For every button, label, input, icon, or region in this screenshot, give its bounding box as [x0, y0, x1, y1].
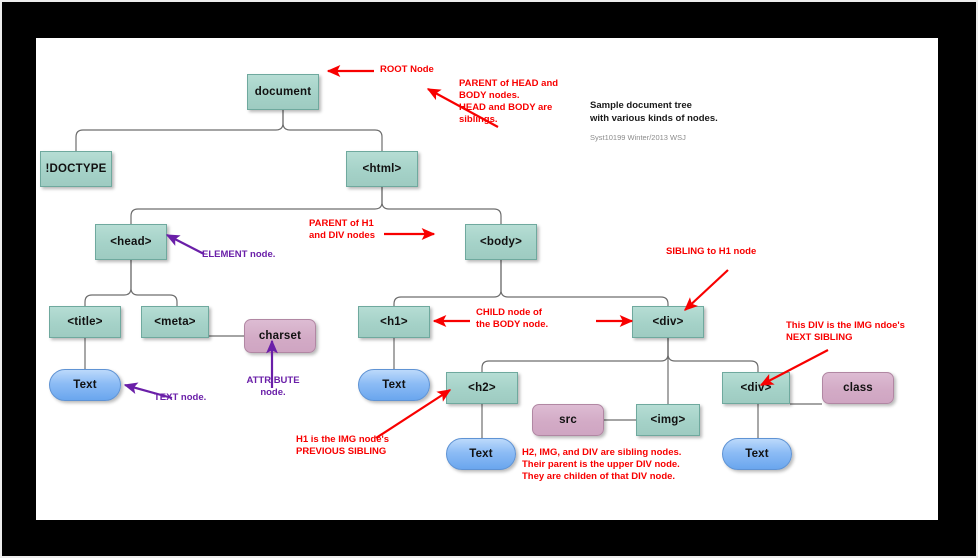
annotation-parent-head-body: PARENT of HEAD and BODY nodes. HEAD and …	[459, 78, 558, 126]
node-label: document	[255, 86, 312, 98]
annotation-next-sibling: This DIV is the IMG ndoe's NEXT SIBLING	[786, 320, 905, 344]
node-text-div-lower[interactable]: Text	[722, 438, 792, 470]
node-label: <h2>	[468, 382, 496, 394]
node-img[interactable]: <img>	[636, 404, 700, 436]
node-label: <div>	[740, 382, 771, 394]
node-title[interactable]: <title>	[49, 306, 121, 338]
node-label: <head>	[110, 236, 151, 248]
node-charset-attribute[interactable]: charset	[244, 319, 316, 353]
annotation-attribute-node: ATTRIBUTE node.	[240, 375, 306, 399]
node-label: Text	[73, 379, 97, 391]
node-label: class	[843, 382, 873, 394]
node-document[interactable]: document	[247, 74, 319, 110]
annotation-child-of-body: CHILD node of the BODY node.	[476, 307, 548, 331]
node-head[interactable]: <head>	[95, 224, 167, 260]
node-label: !DOCTYPE	[45, 163, 106, 175]
annotation-parent-h1-div: PARENT of H1 and DIV nodes	[309, 218, 375, 242]
node-body[interactable]: <body>	[465, 224, 537, 260]
node-div-upper[interactable]: <div>	[632, 306, 704, 338]
node-label: <html>	[363, 163, 402, 175]
node-div-lower[interactable]: <div>	[722, 372, 790, 404]
diagram-caption: Sample document tree with various kinds …	[590, 100, 718, 142]
node-label: Text	[745, 448, 769, 460]
node-label: <img>	[651, 414, 686, 426]
node-class-attribute[interactable]: class	[822, 372, 894, 404]
annotation-previous-sibling: H1 is the IMG node's PREVIOUS SIBLING	[296, 434, 389, 458]
caption-title: Sample document tree with various kinds …	[590, 100, 718, 126]
node-meta[interactable]: <meta>	[141, 306, 209, 338]
node-label: charset	[259, 330, 301, 342]
annotation-sibling-group-note: H2, IMG, and DIV are sibling nodes. Thei…	[522, 447, 681, 483]
node-html[interactable]: <html>	[346, 151, 418, 187]
node-label: <body>	[480, 236, 522, 248]
node-text-h2[interactable]: Text	[446, 438, 516, 470]
image-frame: document !DOCTYPE <html> <head> <body> <…	[2, 2, 976, 556]
node-text-title[interactable]: Text	[49, 369, 121, 401]
node-doctype[interactable]: !DOCTYPE	[40, 151, 112, 187]
node-label: Text	[469, 448, 493, 460]
node-label: <meta>	[154, 316, 195, 328]
caption-subtitle: Syst10199 Winter/2013 WSJ	[590, 133, 718, 142]
node-src-attribute[interactable]: src	[532, 404, 604, 436]
node-label: <h1>	[380, 316, 408, 328]
node-label: src	[559, 414, 577, 426]
annotation-root-node: ROOT Node	[380, 64, 434, 76]
node-label: Text	[382, 379, 406, 391]
node-h1[interactable]: <h1>	[358, 306, 430, 338]
node-label: <div>	[652, 316, 683, 328]
diagram-canvas: document !DOCTYPE <html> <head> <body> <…	[36, 38, 938, 520]
annotation-text-node: TEXT node.	[154, 392, 206, 404]
node-label: <title>	[67, 316, 102, 328]
annotation-sibling-to-h1: SIBLING to H1 node	[666, 246, 756, 258]
node-text-h1[interactable]: Text	[358, 369, 430, 401]
annotation-element-node: ELEMENT node.	[202, 249, 275, 261]
node-h2[interactable]: <h2>	[446, 372, 518, 404]
